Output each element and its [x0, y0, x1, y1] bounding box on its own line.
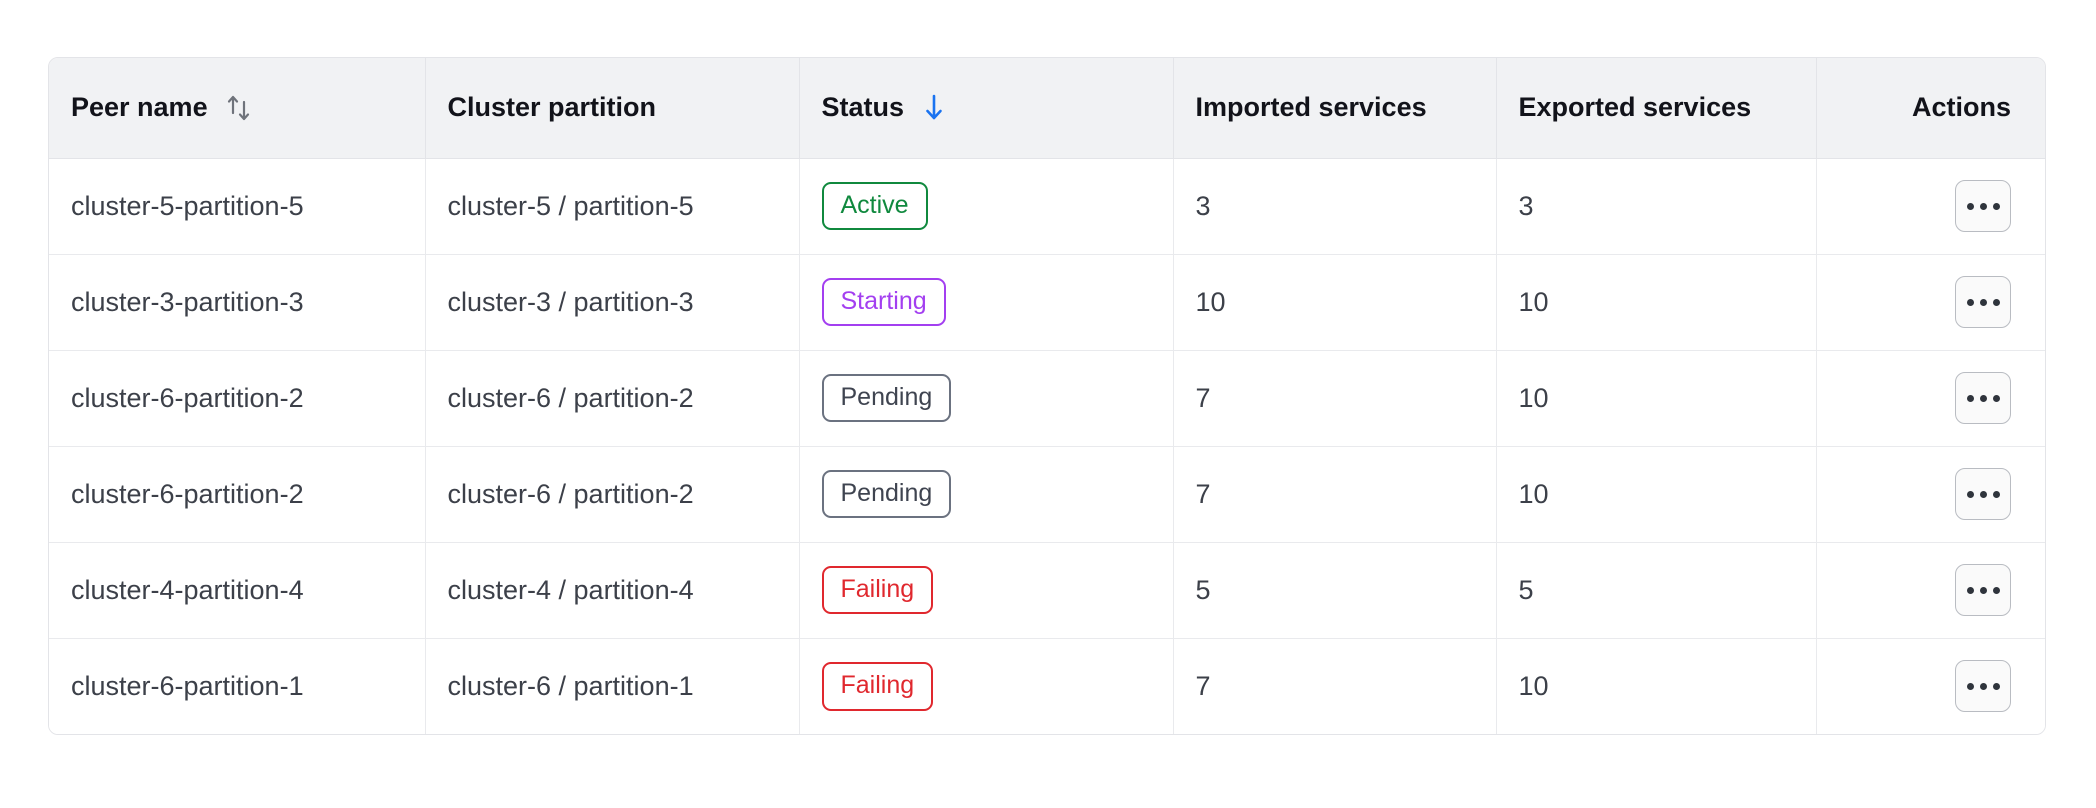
cell-peer-name-text: cluster-3-partition-3: [71, 287, 304, 317]
peers-table: Peer name Cluster partition: [49, 58, 2046, 734]
cell-cluster-partition: cluster-6 / partition-1: [425, 638, 799, 734]
table-row[interactable]: cluster-6-partition-2cluster-6 / partiti…: [49, 446, 2046, 542]
sort-descending-arrow-icon[interactable]: [920, 91, 948, 125]
cell-cluster-partition-text: cluster-6 / partition-2: [448, 383, 694, 413]
cell-imported-services-text: 7: [1196, 671, 1211, 701]
cell-cluster-partition-text: cluster-6 / partition-1: [448, 671, 694, 701]
cell-exported-services: 5: [1496, 542, 1816, 638]
row-actions-button[interactable]: [1955, 372, 2011, 424]
status-badge: Starting: [822, 278, 946, 327]
status-badge: Pending: [822, 470, 952, 519]
cell-cluster-partition-text: cluster-4 / partition-4: [448, 575, 694, 605]
cell-status: Starting: [799, 254, 1173, 350]
table-header-row: Peer name Cluster partition: [49, 58, 2046, 158]
table-row[interactable]: cluster-3-partition-3cluster-3 / partiti…: [49, 254, 2046, 350]
cell-actions: [1816, 542, 2046, 638]
cell-actions: [1816, 638, 2046, 734]
table-row[interactable]: cluster-6-partition-1cluster-6 / partiti…: [49, 638, 2046, 734]
cell-cluster-partition: cluster-6 / partition-2: [425, 446, 799, 542]
cell-exported-services-text: 5: [1519, 575, 1534, 605]
cell-cluster-partition-text: cluster-5 / partition-5: [448, 191, 694, 221]
cell-exported-services: 10: [1496, 254, 1816, 350]
column-header-imported-services[interactable]: Imported services: [1173, 58, 1496, 158]
column-header-exported-services-label: Exported services: [1519, 92, 1752, 123]
cell-imported-services: 3: [1173, 158, 1496, 254]
cell-imported-services: 7: [1173, 446, 1496, 542]
cell-cluster-partition: cluster-3 / partition-3: [425, 254, 799, 350]
kebab-menu-icon: [1967, 299, 2000, 306]
cell-cluster-partition: cluster-6 / partition-2: [425, 350, 799, 446]
cell-actions: [1816, 446, 2046, 542]
cell-peer-name-text: cluster-4-partition-4: [71, 575, 304, 605]
cell-imported-services: 5: [1173, 542, 1496, 638]
cell-imported-services-text: 7: [1196, 479, 1211, 509]
cell-exported-services: 10: [1496, 638, 1816, 734]
column-header-cluster-partition-label: Cluster partition: [448, 92, 657, 123]
cell-exported-services-text: 10: [1519, 671, 1549, 701]
cell-imported-services: 10: [1173, 254, 1496, 350]
column-header-status-label: Status: [822, 92, 905, 123]
column-header-status[interactable]: Status: [799, 58, 1173, 158]
cell-imported-services-text: 3: [1196, 191, 1211, 221]
cell-imported-services: 7: [1173, 638, 1496, 734]
cell-exported-services: 10: [1496, 446, 1816, 542]
status-badge: Failing: [822, 662, 934, 711]
table-header: Peer name Cluster partition: [49, 58, 2046, 158]
cell-exported-services-text: 3: [1519, 191, 1534, 221]
peers-table-container: Peer name Cluster partition: [48, 57, 2046, 735]
cell-peer-name: cluster-4-partition-4: [49, 542, 425, 638]
cell-imported-services-text: 7: [1196, 383, 1211, 413]
row-actions-button[interactable]: [1955, 468, 2011, 520]
row-actions-button[interactable]: [1955, 564, 2011, 616]
table-row[interactable]: cluster-6-partition-2cluster-6 / partiti…: [49, 350, 2046, 446]
kebab-menu-icon: [1967, 683, 2000, 690]
cell-exported-services-text: 10: [1519, 479, 1549, 509]
row-actions-button[interactable]: [1955, 660, 2011, 712]
cell-peer-name: cluster-6-partition-2: [49, 350, 425, 446]
column-header-peer-name-label: Peer name: [71, 92, 208, 123]
cell-status: Pending: [799, 446, 1173, 542]
column-header-actions: Actions: [1816, 58, 2046, 158]
column-header-actions-label: Actions: [1912, 92, 2011, 122]
status-badge: Pending: [822, 374, 952, 423]
row-actions-button[interactable]: [1955, 276, 2011, 328]
cell-status: Failing: [799, 638, 1173, 734]
kebab-menu-icon: [1967, 587, 2000, 594]
cell-exported-services: 3: [1496, 158, 1816, 254]
cell-imported-services-text: 5: [1196, 575, 1211, 605]
kebab-menu-icon: [1967, 203, 2000, 210]
peers-table-page: Peer name Cluster partition: [0, 0, 2096, 808]
cell-peer-name: cluster-6-partition-2: [49, 446, 425, 542]
cell-cluster-partition: cluster-5 / partition-5: [425, 158, 799, 254]
cell-cluster-partition-text: cluster-3 / partition-3: [448, 287, 694, 317]
column-header-imported-services-label: Imported services: [1196, 92, 1427, 123]
cell-exported-services-text: 10: [1519, 287, 1549, 317]
cell-actions: [1816, 350, 2046, 446]
cell-status: Failing: [799, 542, 1173, 638]
cell-status: Active: [799, 158, 1173, 254]
kebab-menu-icon: [1967, 491, 2000, 498]
cell-actions: [1816, 254, 2046, 350]
status-badge: Failing: [822, 566, 934, 615]
column-header-peer-name[interactable]: Peer name: [49, 58, 425, 158]
table-row[interactable]: cluster-4-partition-4cluster-4 / partiti…: [49, 542, 2046, 638]
sort-updown-icon[interactable]: [224, 91, 254, 125]
status-badge: Active: [822, 182, 928, 231]
cell-imported-services-text: 10: [1196, 287, 1226, 317]
table-body: cluster-5-partition-5cluster-5 / partiti…: [49, 158, 2046, 734]
table-row[interactable]: cluster-5-partition-5cluster-5 / partiti…: [49, 158, 2046, 254]
cell-exported-services: 10: [1496, 350, 1816, 446]
cell-peer-name: cluster-3-partition-3: [49, 254, 425, 350]
cell-actions: [1816, 158, 2046, 254]
cell-peer-name-text: cluster-6-partition-2: [71, 479, 304, 509]
cell-peer-name-text: cluster-5-partition-5: [71, 191, 304, 221]
cell-peer-name-text: cluster-6-partition-2: [71, 383, 304, 413]
cell-imported-services: 7: [1173, 350, 1496, 446]
cell-cluster-partition-text: cluster-6 / partition-2: [448, 479, 694, 509]
cell-peer-name-text: cluster-6-partition-1: [71, 671, 304, 701]
cell-exported-services-text: 10: [1519, 383, 1549, 413]
kebab-menu-icon: [1967, 395, 2000, 402]
row-actions-button[interactable]: [1955, 180, 2011, 232]
cell-status: Pending: [799, 350, 1173, 446]
cell-cluster-partition: cluster-4 / partition-4: [425, 542, 799, 638]
column-header-cluster-partition[interactable]: Cluster partition: [425, 58, 799, 158]
column-header-exported-services[interactable]: Exported services: [1496, 58, 1816, 158]
cell-peer-name: cluster-6-partition-1: [49, 638, 425, 734]
cell-peer-name: cluster-5-partition-5: [49, 158, 425, 254]
